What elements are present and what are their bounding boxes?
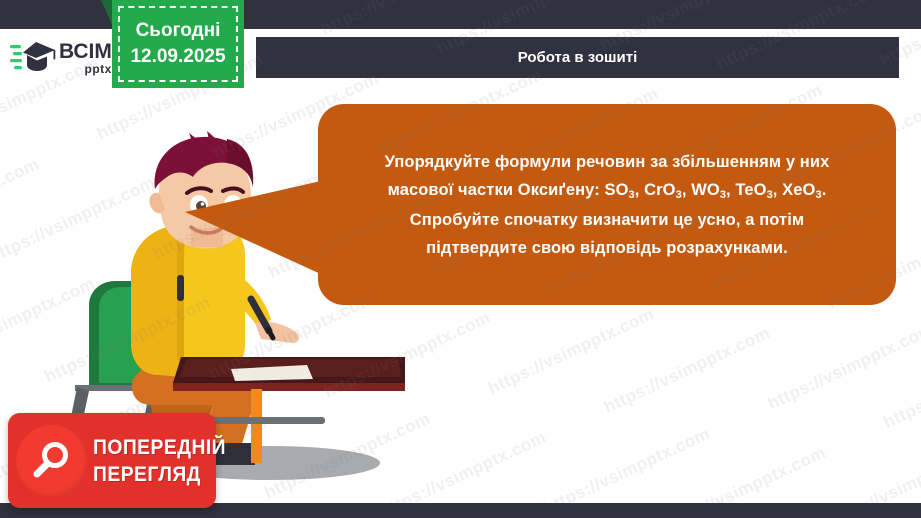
preview-badge-labels: ПОПЕРЕДНІЙ ПЕРЕГЛЯД <box>93 437 238 485</box>
brand-logo[interactable]: ВСІМ pptx <box>10 33 120 83</box>
bubble-line-2-d: , TeO <box>726 181 767 199</box>
bubble-line-2-f: . <box>822 181 827 199</box>
logo-title: ВСІМ <box>59 41 112 62</box>
bubble-line-2-a: масової частки Оксиґену: SO <box>388 181 629 199</box>
subscript-5: 3 <box>815 189 821 201</box>
preview-line-1: ПОПЕРЕДНІЙ <box>93 437 226 458</box>
bubble-line-2-c: , WO <box>682 181 720 199</box>
speech-bubble-text: Упорядкуйте формули речовин за збільшенн… <box>385 148 830 262</box>
bubble-line-2-b: , CrO <box>635 181 676 199</box>
preview-line-2: ПЕРЕГЛЯД <box>93 464 226 485</box>
bubble-line-1: Упорядкуйте формули речовин за збільшенн… <box>385 153 830 171</box>
logo-subtitle: pptx <box>59 63 112 75</box>
bubble-line-2-e: , XeO <box>773 181 816 199</box>
subscript-3: 3 <box>720 189 726 201</box>
page-title: Робота в зошиті <box>518 49 638 66</box>
subscript-2: 3 <box>676 189 682 201</box>
today-label: Сьогодні <box>136 18 221 44</box>
subscript-4: 3 <box>767 189 773 201</box>
speech-bubble: Упорядкуйте формули речовин за збільшенн… <box>318 104 896 305</box>
today-badge: Сьогодні 12.09.2025 <box>112 0 244 88</box>
slide-canvas: ВСІМ pptx Сьогодні 12.09.2025 Робота в з… <box>0 0 921 518</box>
bubble-line-3: Спробуйте спочатку визначити це усно, а … <box>410 211 804 229</box>
today-date: 12.09.2025 <box>130 44 225 70</box>
graduation-cap-icon <box>10 39 56 77</box>
logo-wordmark: ВСІМ pptx <box>59 41 112 75</box>
header-bar: Робота в зошиті <box>256 37 899 78</box>
magnifier-icon <box>16 425 88 497</box>
preview-badge[interactable]: ПОПЕРЕДНІЙ ПЕРЕГЛЯД <box>8 413 216 508</box>
bubble-line-4: підтвердите свою відповідь розрахунками. <box>426 239 788 257</box>
subscript-1: 3 <box>629 189 635 201</box>
